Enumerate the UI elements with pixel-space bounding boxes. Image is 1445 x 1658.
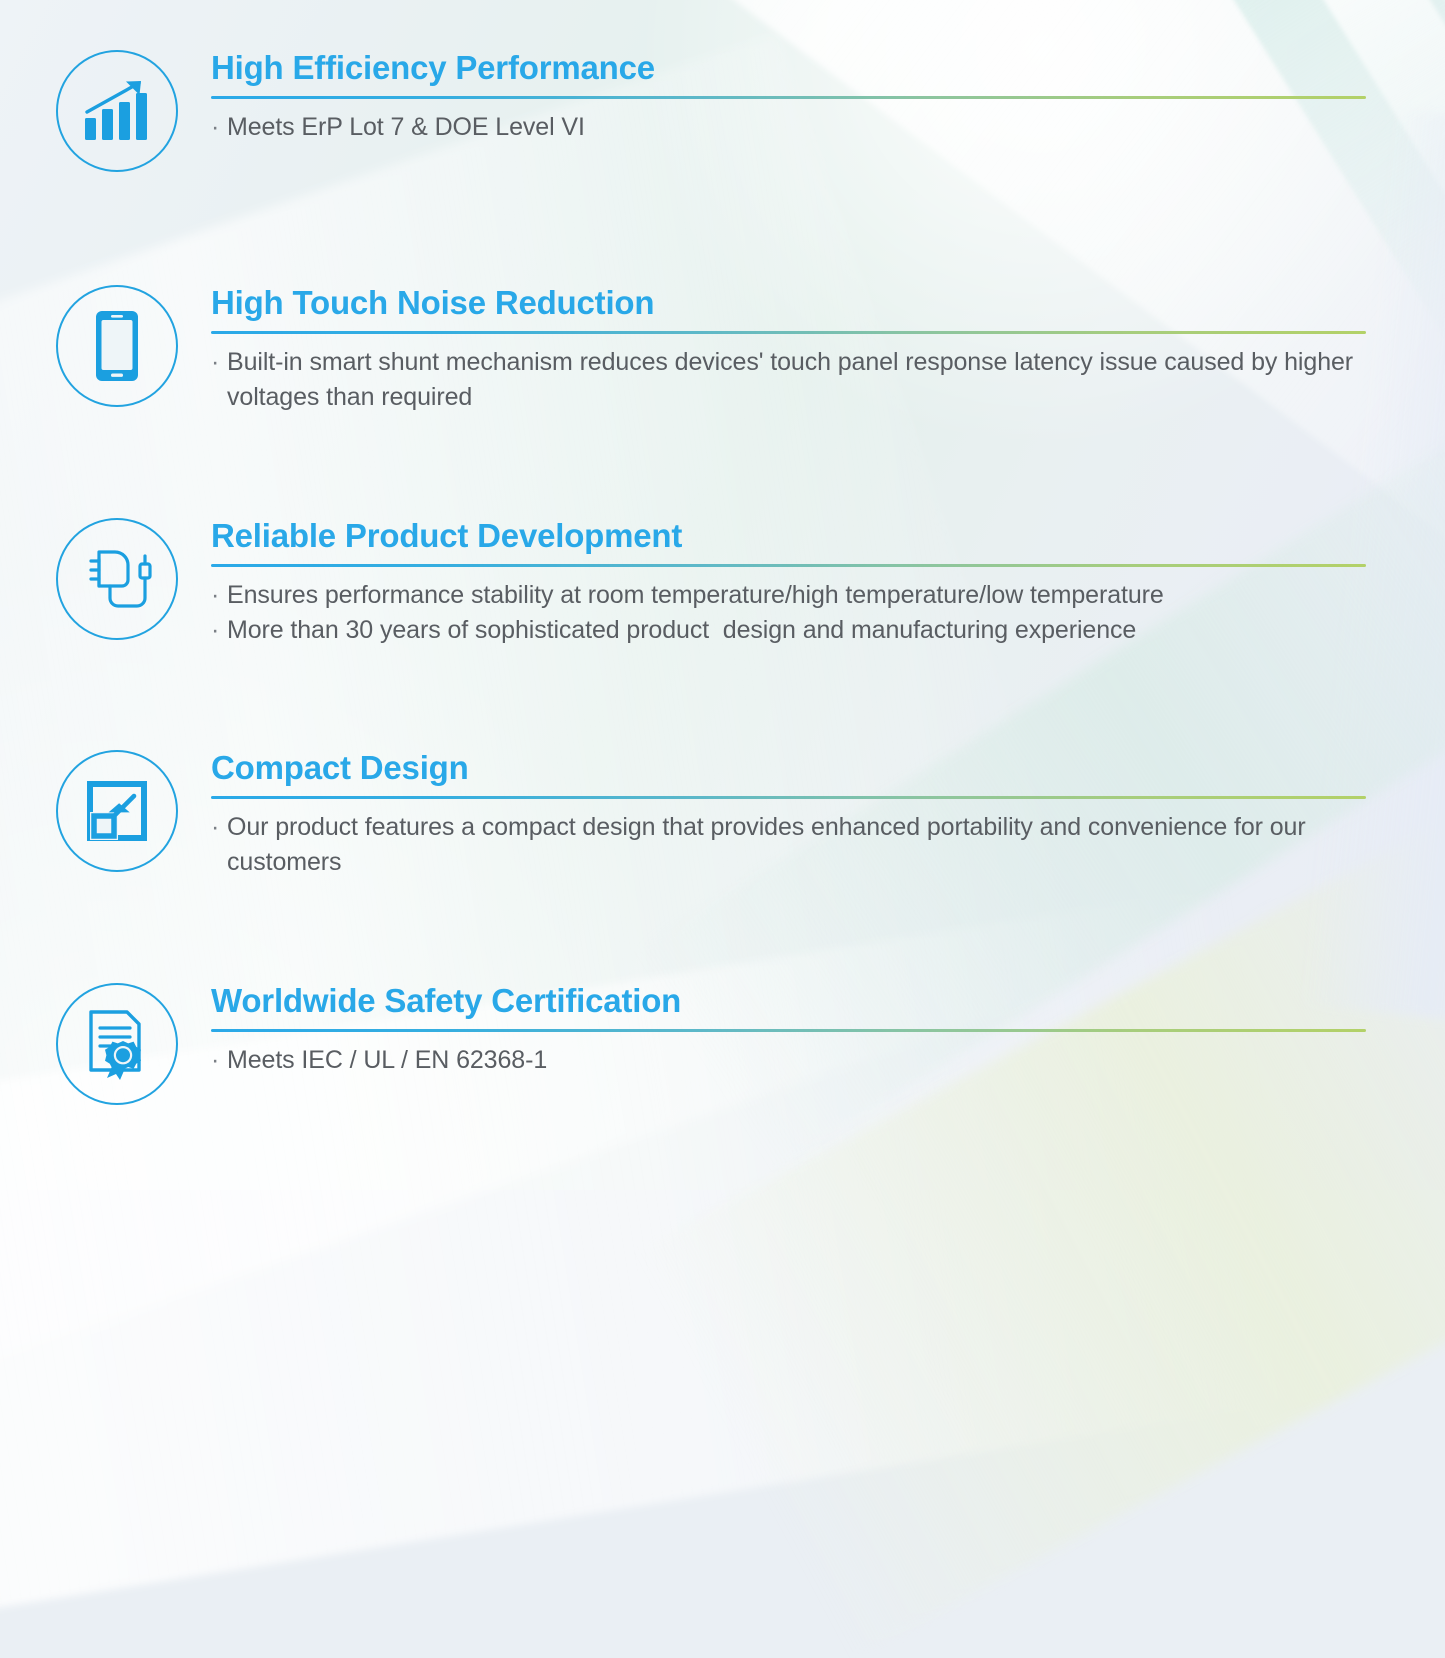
bar-chart-growth-icon [56,50,178,172]
feature-title: Compact Design [211,750,1366,787]
feature-title: High Efficiency Performance [211,50,1366,87]
feature-icon-container [56,285,178,407]
bullet-text: Meets IEC / UL / EN 62368-1 [227,1043,1366,1079]
list-item: · Built-in smart shunt mechanism reduces… [211,345,1366,416]
bullet-text: Ensures performance stability at room te… [227,578,1366,614]
feature-icon-container [56,983,178,1105]
feature-item-worldwide-safety-certification: Worldwide Safety Certification · Meets I… [0,983,1445,1153]
feature-title: High Touch Noise Reduction [211,285,1366,322]
list-item: · Our product features a compact design … [211,810,1366,881]
list-item: · More than 30 years of sophisticated pr… [211,613,1366,649]
feature-item-high-efficiency-performance: High Efficiency Performance · Meets ErP … [0,50,1445,220]
bullet-marker: · [211,1043,227,1079]
feature-divider [211,96,1366,99]
feature-icon-container [56,50,178,172]
feature-body: Reliable Product Development · Ensures p… [211,518,1366,649]
feature-body: High Touch Noise Reduction · Built-in sm… [211,285,1366,416]
bullet-marker: · [211,578,227,614]
feature-icon-container [56,518,178,640]
bullet-marker: · [211,110,227,146]
feature-body: Compact Design · Our product features a … [211,750,1366,881]
feature-bullets: · Meets ErP Lot 7 & DOE Level VI [211,110,1366,146]
list-item: · Meets IEC / UL / EN 62368-1 [211,1043,1366,1079]
compact-resize-icon [56,750,178,872]
feature-title: Reliable Product Development [211,518,1366,555]
power-adapter-icon [56,518,178,640]
feature-list: High Efficiency Performance · Meets ErP … [0,0,1445,1190]
bullet-text: Our product features a compact design th… [227,810,1366,881]
list-item: · Meets ErP Lot 7 & DOE Level VI [211,110,1366,146]
bullet-marker: · [211,613,227,649]
feature-divider [211,796,1366,799]
feature-bullets: · Our product features a compact design … [211,810,1366,881]
bullet-text: Built-in smart shunt mechanism reduces d… [227,345,1366,416]
certificate-seal-icon [56,983,178,1105]
feature-divider [211,1029,1366,1032]
feature-divider [211,564,1366,567]
feature-bullets: · Meets IEC / UL / EN 62368-1 [211,1043,1366,1079]
feature-body: Worldwide Safety Certification · Meets I… [211,983,1366,1078]
bullet-text: Meets ErP Lot 7 & DOE Level VI [227,110,1366,146]
smartphone-icon [56,285,178,407]
feature-title: Worldwide Safety Certification [211,983,1366,1020]
bullet-text: More than 30 years of sophisticated prod… [227,613,1366,649]
feature-bullets: · Built-in smart shunt mechanism reduces… [211,345,1366,416]
feature-icon-container [56,750,178,872]
feature-bullets: · Ensures performance stability at room … [211,578,1366,649]
feature-body: High Efficiency Performance · Meets ErP … [211,50,1366,145]
bullet-marker: · [211,810,227,846]
list-item: · Ensures performance stability at room … [211,578,1366,614]
feature-item-reliable-product-development: Reliable Product Development · Ensures p… [0,518,1445,718]
bullet-marker: · [211,345,227,381]
feature-item-compact-design: Compact Design · Our product features a … [0,750,1445,950]
feature-item-high-touch-noise-reduction: High Touch Noise Reduction · Built-in sm… [0,285,1445,485]
feature-divider [211,331,1366,334]
